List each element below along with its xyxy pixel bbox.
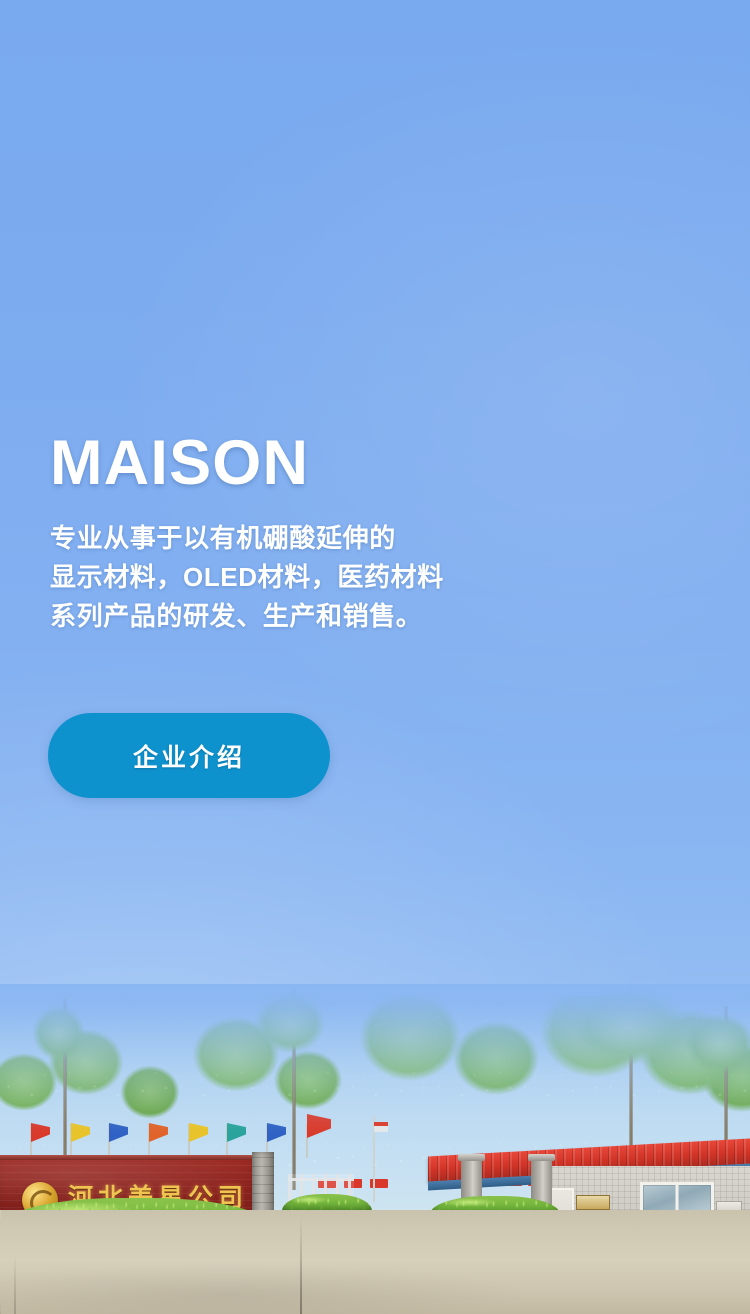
factory-entrance-photo: 河北美星公司 MAISON CHEMICAL <box>0 984 750 1314</box>
driveway-flag <box>374 1122 388 1132</box>
pavement-seam <box>300 1218 302 1314</box>
tagline-line-1: 专业从事于以有机硼酸延伸的 <box>50 519 690 558</box>
guardhouse-signboard <box>576 1195 610 1210</box>
company-intro-button-label: 企业介绍 <box>133 738 245 774</box>
sign-wall-cap <box>0 1155 256 1160</box>
company-intro-button[interactable]: 企业介绍 <box>48 713 330 798</box>
page-title: MAISON <box>50 432 690 495</box>
tree-crown <box>246 984 342 1104</box>
hero-tagline: 专业从事于以有机硼酸延伸的 显示材料，OLED材料，医药材料 系列产品的研发、生… <box>50 519 690 636</box>
pavement-seam <box>14 1254 16 1314</box>
hero-copy: MAISON 专业从事于以有机硼酸延伸的 显示材料，OLED材料，医药材料 系列… <box>50 432 690 636</box>
tree-crown <box>26 998 104 1094</box>
tree-crown <box>676 1006 750 1116</box>
driveway-ground <box>0 1210 750 1314</box>
tagline-line-2: 显示材料，OLED材料，医药材料 <box>50 558 690 597</box>
hero-banner: 河北美星公司 MAISON CHEMICAL <box>0 0 750 1314</box>
tagline-line-3: 系列产品的研发、生产和销售。 <box>50 597 690 636</box>
